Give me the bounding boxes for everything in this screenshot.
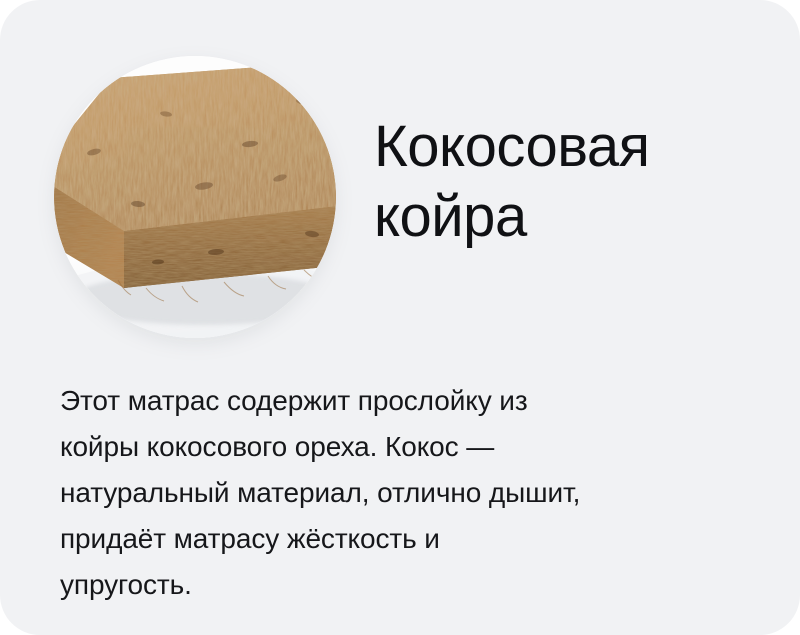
description-text: Этот матрас содержит прослойку из койры … bbox=[60, 378, 760, 608]
page-title: Кокосовая койра bbox=[374, 112, 774, 252]
coir-image-circle bbox=[54, 56, 336, 338]
info-card: Кокосовая койра Этот матрас содержит про… bbox=[0, 0, 800, 635]
hero-section: Кокосовая койра bbox=[0, 0, 800, 356]
coconut-coir-slab-photo bbox=[54, 56, 336, 338]
